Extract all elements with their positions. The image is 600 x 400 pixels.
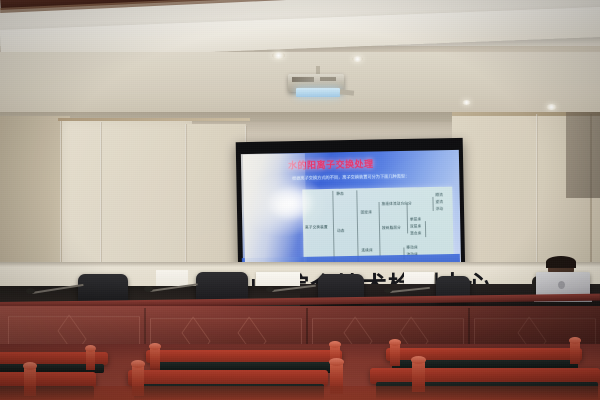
bench-post-cap — [329, 341, 341, 348]
tree-leaf: 移动床 — [406, 245, 417, 250]
tree-leaf: 混合床 — [410, 231, 421, 236]
wall-seam — [185, 124, 187, 280]
bench-post-cap — [85, 345, 96, 352]
tree-label-by-resin: 按树脂层分 — [382, 226, 401, 231]
tree-label-fixed-bed: 固定床 — [361, 210, 372, 215]
person-hair — [546, 256, 576, 268]
projector-lens — [296, 88, 340, 97]
foreground-wash — [0, 386, 600, 400]
downlight-icon — [546, 104, 557, 110]
tree-root-label: 离子交换装置 — [305, 225, 328, 230]
bench-post-cap — [23, 362, 37, 370]
tree-bracket — [425, 221, 426, 237]
tree-leaf: 逆流 — [435, 200, 443, 205]
laptop-logo — [558, 281, 565, 289]
tree-leaf: 双层床 — [410, 224, 421, 229]
stage-chair — [78, 274, 128, 302]
wall-seam — [100, 122, 102, 280]
tree-leaf: 单层床 — [410, 217, 421, 222]
microphone-icon — [144, 286, 153, 292]
downlight-icon — [272, 52, 285, 59]
microphone-icon — [266, 287, 274, 292]
microphone-icon — [26, 288, 35, 294]
wall-shadow-region — [566, 112, 600, 198]
tree-label-by-flow: 按液体流动方向分 — [382, 201, 412, 207]
tree-bracket — [379, 202, 381, 256]
bench-post-cap — [329, 358, 344, 366]
bench-post-cap — [149, 343, 161, 350]
downlight-icon — [462, 100, 471, 105]
stage-chair — [196, 272, 248, 302]
wall-top-trim — [58, 118, 250, 121]
tree-leaf: 浮动 — [436, 207, 444, 212]
downlight-icon — [352, 56, 363, 62]
bench-post-cap — [411, 356, 426, 364]
wall-seam — [60, 120, 62, 280]
projector-vent — [320, 77, 336, 81]
tree-label-static: 静态 — [336, 192, 344, 197]
tree-label-moving-bed: 连续床 — [361, 248, 372, 253]
tree-bracket — [332, 191, 334, 265]
wall-panel — [62, 120, 192, 280]
bench-post-cap — [389, 339, 401, 346]
tree-leaf: 顺流 — [435, 193, 443, 198]
tree-bracket — [407, 203, 409, 233]
projector-vent — [292, 77, 314, 82]
tree-bracket — [432, 197, 433, 211]
wall-seam — [536, 114, 538, 284]
tree-bracket — [356, 190, 358, 264]
microphone-icon — [384, 288, 392, 293]
bench-post-cap — [569, 337, 581, 344]
conference-hall-photo: 水的阳离子交换处理 根据离子交换方式的不同，离子交换装置可分为下面几种类型： 离… — [0, 0, 600, 400]
bench-post-cap — [131, 360, 145, 368]
tree-label-dynamic: 动态 — [337, 229, 345, 234]
